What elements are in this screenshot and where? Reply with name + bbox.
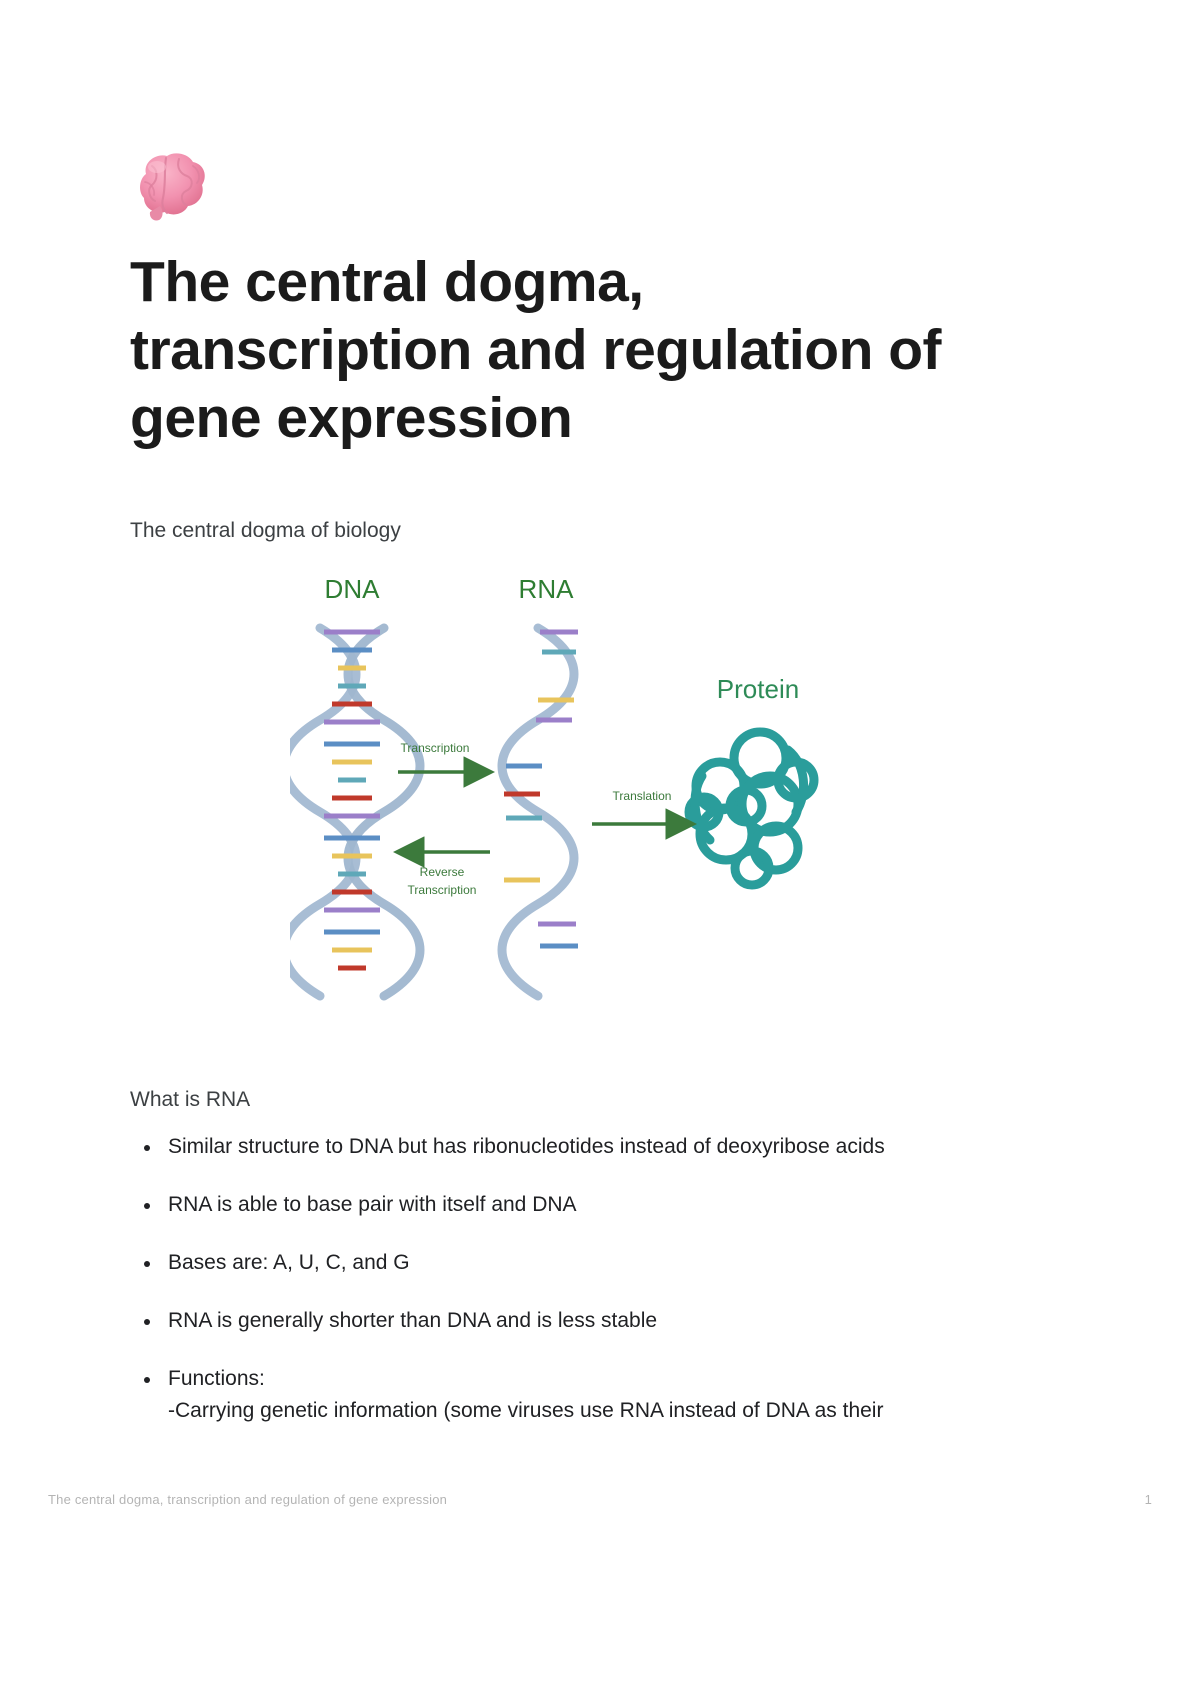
document-page: The central dogma, transcription and reg… [0, 0, 1200, 1700]
bullet-dot-icon [144, 1145, 150, 1151]
page-footer: The central dogma, transcription and reg… [48, 1492, 1152, 1507]
bullet-dot-icon [144, 1261, 150, 1267]
bullet-dot-icon [144, 1377, 150, 1383]
dna-helix [290, 628, 420, 996]
bullet-dot-icon [144, 1319, 150, 1325]
list-item: Functions: -Carrying genetic information… [130, 1364, 1050, 1426]
list-item: RNA is generally shorter than DNA and is… [130, 1306, 1050, 1336]
list-item: Similar structure to DNA but has ribonuc… [130, 1132, 1050, 1162]
bullet-dot-icon [144, 1203, 150, 1209]
page-title: The central dogma, transcription and reg… [130, 248, 960, 452]
central-dogma-figure: DNA RNA Protein Transcription Re [290, 580, 850, 1010]
page-number: 1 [1145, 1492, 1152, 1507]
list-item: Bases are: A, U, C, and G [130, 1248, 1050, 1278]
list-item-subline: -Carrying genetic information (some viru… [168, 1396, 1050, 1426]
translation-label: Translation [613, 789, 672, 803]
rna-bullet-list: Similar structure to DNA but has ribonuc… [130, 1132, 1050, 1454]
section-heading: What is RNA [130, 1085, 250, 1115]
list-item-text: Bases are: A, U, C, and G [168, 1251, 410, 1274]
list-item: RNA is able to base pair with itself and… [130, 1190, 1050, 1220]
list-item-text: Similar structure to DNA but has ribonuc… [168, 1135, 885, 1158]
dna-label: DNA [325, 580, 381, 604]
list-item-text: Functions: [168, 1367, 265, 1390]
rna-label: RNA [519, 580, 575, 604]
rna-strand [502, 628, 578, 996]
brain-emoji-icon [130, 148, 214, 224]
reverse-transcription-label-line2: Transcription [408, 883, 477, 897]
protein-blob [689, 732, 814, 885]
protein-label: Protein [717, 674, 799, 704]
footer-caption: The central dogma, transcription and reg… [48, 1492, 447, 1507]
reverse-transcription-label-line1: Reverse [420, 865, 465, 879]
list-item-text: RNA is able to base pair with itself and… [168, 1193, 577, 1216]
list-item-text: RNA is generally shorter than DNA and is… [168, 1309, 657, 1332]
transcription-label: Transcription [401, 741, 470, 755]
subheading: The central dogma of biology [130, 516, 401, 546]
